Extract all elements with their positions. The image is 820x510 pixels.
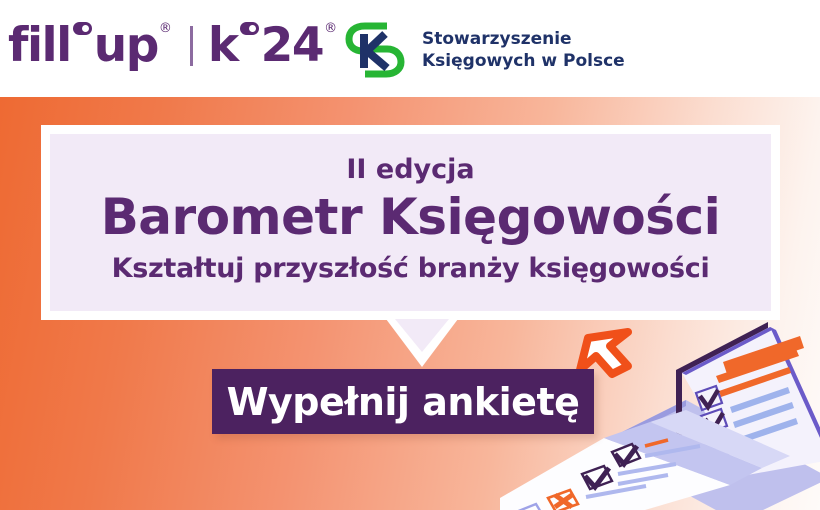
pill-dot-icon-2	[240, 22, 259, 35]
partner-name-line1: Stowarzyszenie	[422, 28, 625, 50]
hero-title-card: II edycja Barometr Księgowości Kształtuj…	[41, 125, 780, 364]
fillup-wordmark-part2: up	[94, 22, 158, 69]
fill-survey-button-label: Wypełnij ankietę	[227, 382, 580, 422]
sks-monogram-icon	[345, 22, 409, 78]
promo-banner: fill up ® k 24 ® Stowarzyszenie Księgowy…	[0, 0, 820, 510]
fill-survey-button[interactable]: Wypełnij ankietę	[212, 369, 594, 434]
fillup-k24-logo[interactable]: fill up ® k 24 ®	[8, 22, 337, 78]
k24-wordmark-part1: k	[208, 22, 238, 69]
speech-bubble-tail-wrap	[41, 320, 780, 364]
logo-bar: fill up ® k 24 ® Stowarzyszenie Księgowy…	[0, 0, 820, 97]
registered-mark-icon: ®	[159, 22, 172, 35]
speech-bubble-tail-icon	[386, 319, 458, 369]
card-white-frame: II edycja Barometr Księgowości Kształtuj…	[41, 125, 780, 320]
k24-wordmark-part2: 24	[261, 22, 323, 69]
partner-logo-sks[interactable]: Stowarzyszenie Księgowych w Polsce	[345, 22, 625, 78]
registered-mark-icon-2: ®	[324, 22, 337, 35]
logo-divider	[190, 26, 193, 66]
fillup-wordmark-part1: fill	[8, 22, 71, 69]
partner-name-line2: Księgowych w Polsce	[422, 50, 625, 72]
hero-tagline: Kształtuj przyszłość branży księgowości	[68, 252, 753, 285]
partner-name: Stowarzyszenie Księgowych w Polsce	[422, 28, 625, 72]
page-title: Barometr Księgowości	[68, 188, 753, 246]
edition-label: II edycja	[68, 154, 753, 186]
card-inner-panel: II edycja Barometr Księgowości Kształtuj…	[50, 134, 771, 311]
pill-dot-icon	[73, 22, 92, 35]
